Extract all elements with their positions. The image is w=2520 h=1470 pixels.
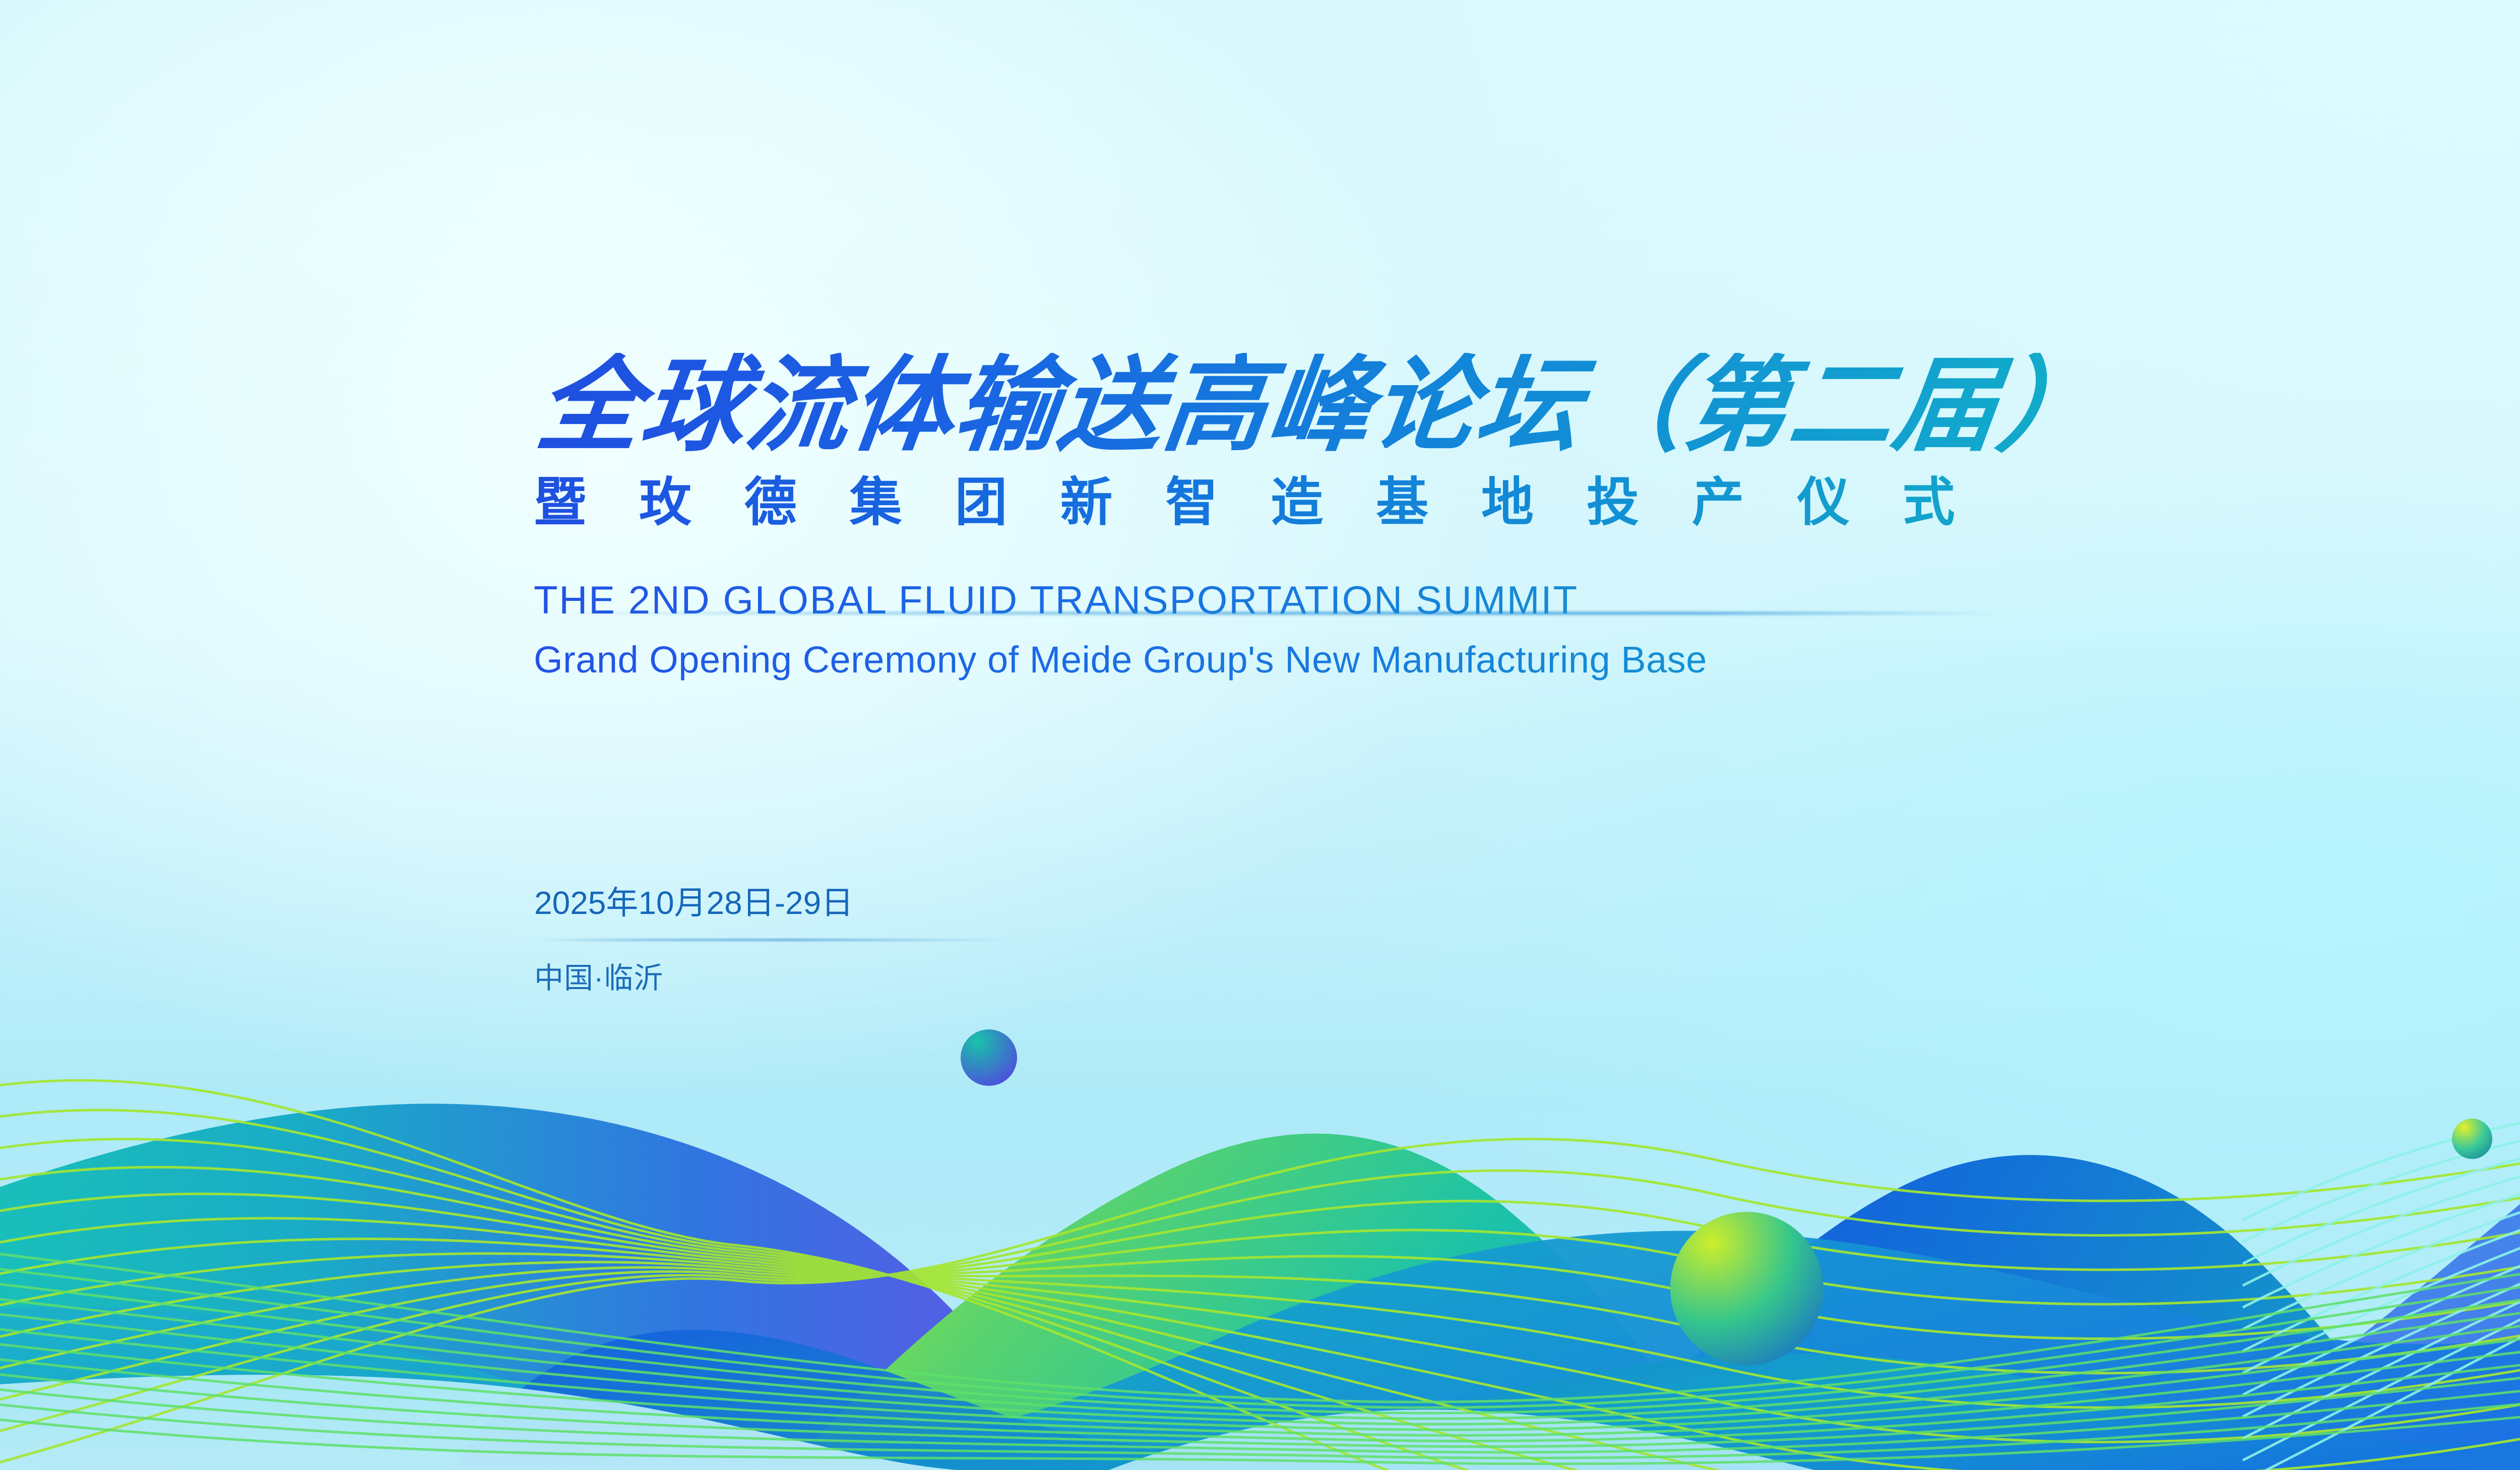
divider-under-subtitle [534, 611, 1996, 615]
wave-artwork [0, 0, 2520, 1470]
sphere-small-blue [961, 1029, 1017, 1086]
english-title-line2: Grand Opening Ceremony of Meide Group's … [534, 638, 2520, 683]
divider-under-date [534, 939, 1008, 941]
page-title: 全球流体输送高峰论坛（第二届） [532, 353, 2520, 458]
page-subtitle: 暨 玫 德 集 团 新 智 造 基 地 投 产 仪 式 [534, 473, 2520, 532]
english-title-line1: THE 2ND GLOBAL FLUID TRANSPORTATION SUMM… [534, 577, 2520, 624]
sphere-tiny-green [2452, 1119, 2492, 1159]
event-banner: 全球流体输送高峰论坛（第二届） 暨 玫 德 集 团 新 智 造 基 地 投 产 … [0, 0, 2520, 1470]
event-meta: 2025年10月28日-29日 中国·临沂 [534, 877, 1139, 997]
banner-text-block: 全球流体输送高峰论坛（第二届） 暨 玫 德 集 团 新 智 造 基 地 投 产 … [532, 353, 2520, 683]
sphere-large-green [1670, 1212, 1823, 1365]
event-location: 中国·临沂 [534, 954, 1139, 997]
event-date: 2025年10月28日-29日 [534, 877, 1139, 924]
